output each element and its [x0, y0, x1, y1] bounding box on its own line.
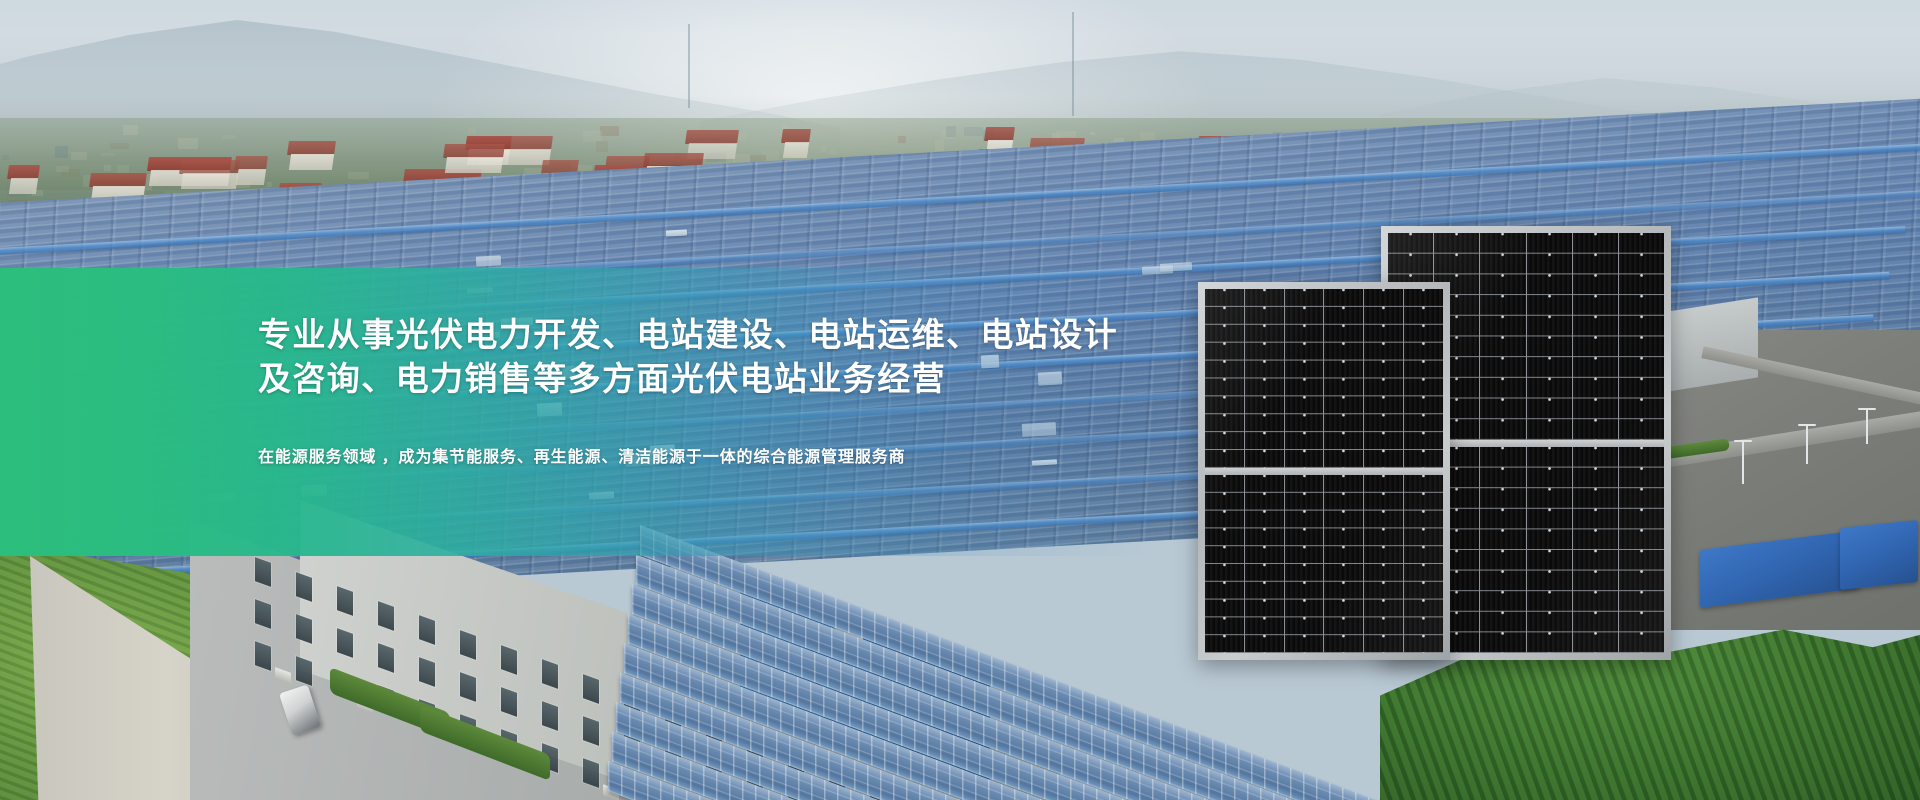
pv-busbar-dots [1245, 475, 1284, 654]
house-wall [783, 142, 809, 158]
pv-busbar-dots [1480, 233, 1525, 440]
module-upper-half [1205, 289, 1443, 468]
pv-busbar-dots [1285, 475, 1324, 654]
pv-busbar-dots [1245, 289, 1284, 468]
pv-busbar-dots [1573, 233, 1618, 440]
pv-busbar-dots [1205, 289, 1244, 468]
house-wall [181, 173, 238, 189]
pv-busbar-dots [1285, 289, 1324, 468]
hero-banner: 专业从事光伏电力开发、电站建设、电站运维、电站设计 及咨询、电力销售等多方面光伏… [0, 0, 1920, 800]
tarpaulin [1840, 520, 1918, 590]
pv-busbar-dots [1324, 475, 1363, 654]
street-lamp [1806, 424, 1808, 464]
house-roof [685, 130, 739, 144]
pv-cell-column [1245, 475, 1285, 654]
house-roof [781, 129, 811, 143]
roof-skylight [1160, 262, 1192, 272]
pv-busbar-dots [1480, 447, 1525, 654]
house-roof [89, 173, 147, 187]
house-roof [287, 141, 336, 155]
pv-cell-column [1619, 447, 1664, 654]
pv-cell-column [1527, 233, 1573, 440]
pv-busbar-dots [1364, 475, 1403, 654]
pv-busbar-dots [1324, 289, 1363, 468]
pv-cell-column [1324, 475, 1364, 654]
pv-cell-column [1205, 475, 1245, 654]
hero-text-block: 专业从事光伏电力开发、电站建设、电站运维、电站设计 及咨询、电力销售等多方面光伏… [258, 313, 1138, 471]
hero-title: 专业从事光伏电力开发、电站建设、电站运维、电站设计 及咨询、电力销售等多方面光伏… [258, 313, 1138, 401]
pv-cell-column [1619, 233, 1664, 440]
pv-busbar-dots [1364, 289, 1403, 468]
pv-cell-column [1324, 289, 1364, 468]
house-roof [7, 165, 40, 179]
pv-busbar-dots [1573, 447, 1618, 654]
pv-cell-column [1205, 289, 1245, 468]
house-wall [9, 178, 38, 194]
module-center-bar [1205, 468, 1443, 475]
pv-busbar-dots [1619, 233, 1664, 440]
house-wall [445, 157, 503, 173]
pv-cell-column [1404, 289, 1443, 468]
pv-cell-column [1527, 447, 1573, 654]
pv-busbar-dots [1527, 233, 1572, 440]
pv-cell-column [1285, 475, 1325, 654]
solar-module-front [1198, 282, 1450, 660]
pv-cell-column [1245, 289, 1285, 468]
pv-cell-column [1480, 447, 1526, 654]
house-roof [443, 144, 505, 158]
house-roof [179, 160, 240, 174]
pv-cell-column [1364, 475, 1404, 654]
pv-cell-column [1285, 289, 1325, 468]
pv-busbar-dots [1205, 475, 1244, 654]
hero-subtitle: 在能源服务领域 ，成为集节能服务、再生能源、清洁能源于一体的综合能源管理服务商 [258, 445, 1138, 471]
pv-busbar-dots [1619, 447, 1664, 654]
module-lower-half [1205, 475, 1443, 654]
pv-cell-column [1364, 289, 1404, 468]
house-roof [984, 127, 1015, 141]
pv-busbar-dots [1404, 475, 1443, 654]
street-lamp [1742, 440, 1744, 484]
house-wall [289, 154, 334, 170]
pv-cell-column [1573, 233, 1619, 440]
pv-cell-column [1480, 233, 1526, 440]
house-wall [236, 169, 266, 185]
pv-busbar-dots [1404, 289, 1443, 468]
pv-cell-column [1573, 447, 1619, 654]
roof-skylight [666, 229, 687, 236]
street-lamp [1866, 408, 1868, 444]
pv-cell-column [1404, 475, 1443, 654]
pv-busbar-dots [1527, 447, 1572, 654]
roof-skylight [476, 255, 502, 266]
